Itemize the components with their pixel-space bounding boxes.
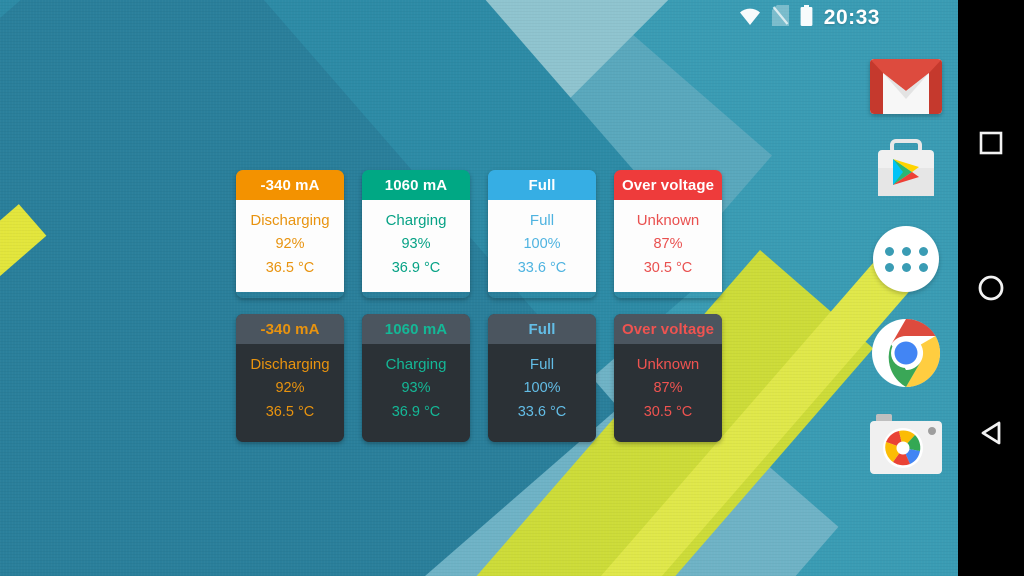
card-temperature: 30.5 °C [616, 401, 720, 425]
card-header: Full [488, 314, 596, 344]
square-icon [978, 130, 1004, 156]
card-temperature: 36.9 °C [364, 257, 468, 281]
gmail-icon [870, 59, 942, 114]
card-status: Charging [364, 209, 468, 233]
battery-card[interactable]: Full Full 100% 33.6 °C [488, 314, 596, 442]
card-temperature: 36.5 °C [238, 401, 342, 425]
card-header: 1060 mA [362, 170, 470, 200]
triangle-back-icon [977, 419, 1005, 447]
card-status: Full [490, 209, 594, 233]
card-body: Full 100% 33.6 °C [488, 344, 596, 436]
card-status: Unknown [616, 353, 720, 377]
card-header: -340 mA [236, 314, 344, 344]
app-icon-chrome[interactable] [871, 318, 941, 388]
card-percent: 87% [616, 377, 720, 401]
card-temperature: 30.5 °C [616, 257, 720, 281]
no-sim-icon [772, 5, 789, 31]
chrome-icon [871, 318, 941, 388]
recents-button[interactable] [974, 126, 1008, 160]
widget-row-light: -340 mA Discharging 92% 36.5 °C 1060 mA … [236, 170, 722, 298]
card-status: Full [490, 353, 594, 377]
card-status: Charging [364, 353, 468, 377]
battery-card[interactable]: 1060 mA Charging 93% 36.9 °C [362, 314, 470, 442]
card-status: Unknown [616, 209, 720, 233]
status-bar: 20:33 [0, 0, 958, 36]
card-percent: 93% [364, 377, 468, 401]
card-temperature: 33.6 °C [490, 257, 594, 281]
wifi-icon [739, 6, 761, 31]
card-body: Discharging 92% 36.5 °C [236, 344, 344, 436]
card-header: Full [488, 170, 596, 200]
card-percent: 92% [238, 377, 342, 401]
battery-card[interactable]: 1060 mA Charging 93% 36.9 °C [362, 170, 470, 298]
card-body: Charging 93% 36.9 °C [362, 200, 470, 292]
app-icon-column [864, 50, 948, 474]
app-drawer-icon [885, 247, 928, 272]
card-body: Unknown 87% 30.5 °C [614, 200, 722, 292]
phone-screen: 20:33 -340 mA Discharging 92% 36.5 °C 10… [0, 0, 958, 576]
card-percent: 92% [238, 233, 342, 257]
status-bar-clock: 20:33 [824, 6, 880, 30]
battery-card[interactable]: -340 mA Discharging 92% 36.5 °C [236, 170, 344, 298]
app-icon-camera[interactable] [870, 414, 942, 474]
card-header: 1060 mA [362, 314, 470, 344]
play-store-icon [873, 138, 939, 200]
battery-card[interactable]: Full Full 100% 33.6 °C [488, 170, 596, 298]
battery-icon [800, 5, 813, 31]
battery-card[interactable]: -340 mA Discharging 92% 36.5 °C [236, 314, 344, 442]
battery-card[interactable]: Over voltage Unknown 87% 30.5 °C [614, 314, 722, 442]
widget-row-dark: -340 mA Discharging 92% 36.5 °C 1060 mA … [236, 314, 722, 442]
card-temperature: 33.6 °C [490, 401, 594, 425]
camera-icon [870, 414, 942, 474]
app-icon-gmail[interactable] [870, 50, 942, 112]
card-body: Discharging 92% 36.5 °C [236, 200, 344, 292]
card-status: Discharging [238, 353, 342, 377]
card-header: Over voltage [614, 314, 722, 344]
card-header: Over voltage [614, 170, 722, 200]
battery-card[interactable]: Over voltage Unknown 87% 30.5 °C [614, 170, 722, 298]
card-temperature: 36.9 °C [364, 401, 468, 425]
app-icon-play-store[interactable] [873, 138, 939, 200]
card-header: -340 mA [236, 170, 344, 200]
card-percent: 100% [490, 233, 594, 257]
card-body: Charging 93% 36.9 °C [362, 344, 470, 436]
card-temperature: 36.5 °C [238, 257, 342, 281]
circle-icon [977, 274, 1005, 302]
navigation-bar [958, 0, 1024, 576]
card-percent: 93% [364, 233, 468, 257]
back-button[interactable] [974, 416, 1008, 450]
card-body: Full 100% 33.6 °C [488, 200, 596, 292]
card-percent: 87% [616, 233, 720, 257]
card-status: Discharging [238, 209, 342, 233]
card-percent: 100% [490, 377, 594, 401]
home-button[interactable] [974, 271, 1008, 305]
card-body: Unknown 87% 30.5 °C [614, 344, 722, 436]
app-drawer-button[interactable] [873, 226, 939, 292]
battery-widget-grid: -340 mA Discharging 92% 36.5 °C 1060 mA … [236, 170, 722, 442]
